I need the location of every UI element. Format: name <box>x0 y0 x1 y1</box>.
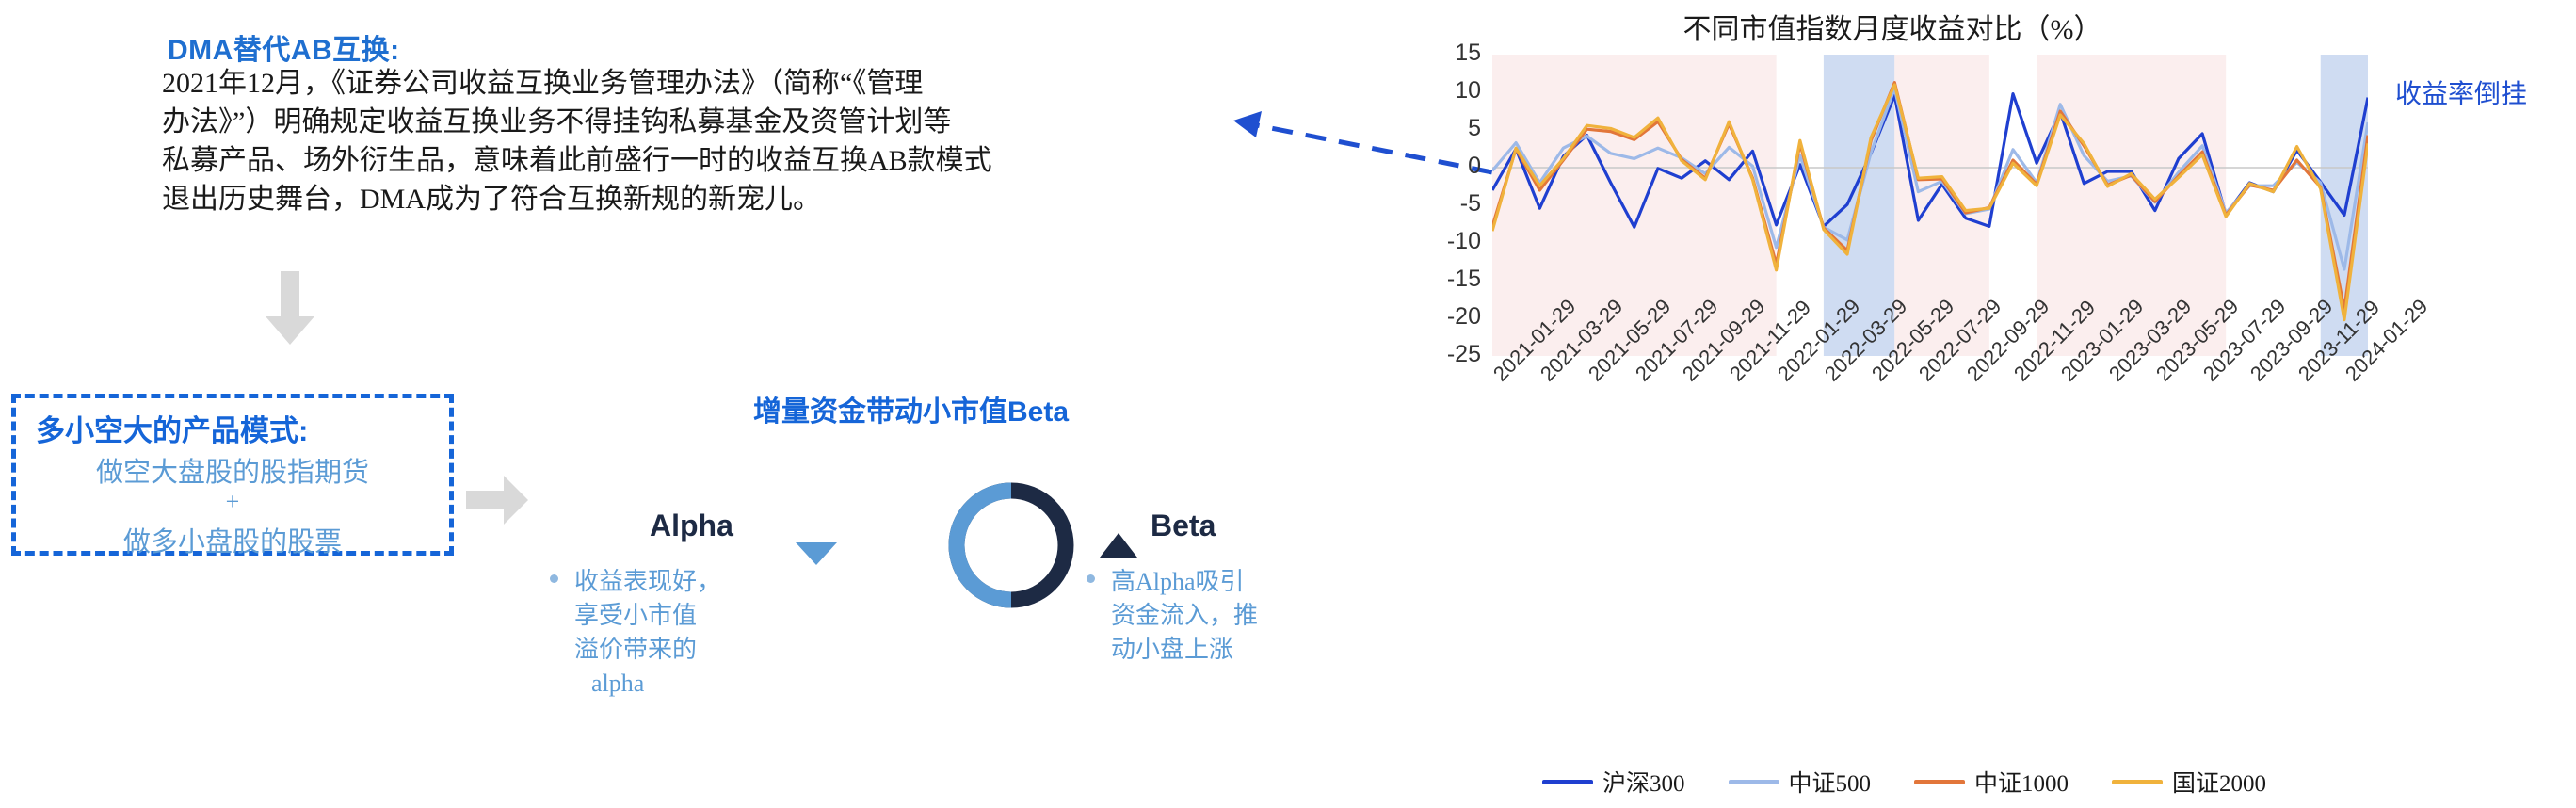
y-tick-label: 10 <box>1415 77 1481 105</box>
legend-item: 中证500 <box>1729 765 1872 799</box>
y-tick-label: 5 <box>1415 115 1481 142</box>
alpha-bullet-1: 收益表现好， <box>574 565 772 599</box>
beta-bullet-list: 高Alpha吸引 资金流入，推 动小盘上涨 <box>1111 565 1328 667</box>
headline-dma: DMA替代AB互换: <box>168 26 400 68</box>
alpha-bullet-list: 收益表现好， 享受小市值 溢价带来的 alpha <box>574 565 772 701</box>
beta-triangle-icon <box>1100 533 1137 558</box>
legend-swatch <box>2112 780 2163 784</box>
y-tick-label: -5 <box>1415 190 1481 218</box>
y-tick-label: 15 <box>1415 40 1481 67</box>
legend-item: 中证1000 <box>1914 765 2069 799</box>
right-arrow-icon <box>466 476 528 525</box>
monthly-return-chart: 不同市值指数月度收益对比（%） 小市值溢价 收益率倒挂 151050-5-10-… <box>1375 0 2576 808</box>
legend-swatch <box>1914 780 1965 784</box>
y-tick-label: -10 <box>1415 228 1481 255</box>
chart-title: 不同市值指数月度收益对比（%） <box>1375 6 2410 47</box>
beta-bullet-2: 资金流入，推 <box>1111 599 1328 633</box>
alpha-beta-title: 增量资金带动小市值Beta <box>753 388 1069 429</box>
annotation-yield-inversion: 收益率倒挂 <box>2395 73 2527 111</box>
paragraph-line-2: 办法》”）明确规定收益互换业务不得挂钩私募基金及资管计划等 <box>162 103 1174 141</box>
beta-bullet-3: 动小盘上涨 <box>1111 633 1328 667</box>
legend-item: 沪深300 <box>1542 765 1685 799</box>
paragraph-line-3: 私募产品、场外衍生品，意味着此前盛行一时的收益互换AB款模式 <box>162 141 1174 180</box>
y-tick-label: -15 <box>1415 266 1481 293</box>
paragraph-line-4: 退出历史舞台，DMA成为了符合互换新规的新宠儿。 <box>162 180 1174 218</box>
body-paragraph: 2021年12月，《证券公司收益互换业务管理办法》（简称“《管理 办法》”）明确… <box>162 64 1174 218</box>
legend-label: 中证1000 <box>1974 765 2069 799</box>
legend-label: 中证500 <box>1789 765 1872 799</box>
product-mode-line-1: 做空大盘股的股指期货 <box>11 450 454 490</box>
alpha-bullet-2: 享受小市值 <box>574 599 772 633</box>
beta-bullet-1: 高Alpha吸引 <box>1111 565 1328 599</box>
legend-swatch <box>1542 780 1593 784</box>
paragraph-line-1: 2021年12月，《证券公司收益互换业务管理办法》（简称“《管理 <box>162 64 1174 103</box>
y-tick-label: 0 <box>1415 153 1481 180</box>
legend-swatch <box>1729 780 1779 784</box>
bullet-dot-icon <box>1087 574 1095 583</box>
alpha-triangle-icon <box>796 542 837 565</box>
down-arrow-icon <box>266 271 314 345</box>
product-mode-title: 多小空大的产品模式: <box>36 407 308 449</box>
product-mode-plus: + <box>11 488 454 516</box>
product-mode-line-3: 做多小盘股的股票 <box>11 520 454 559</box>
chart-legend: 沪深300 中证500 中证1000 国证2000 <box>1542 765 2266 799</box>
alpha-beta-donut-icon <box>942 476 1081 615</box>
alpha-label: Alpha <box>650 509 733 543</box>
legend-label: 沪深300 <box>1602 765 1685 799</box>
bullet-dot-icon <box>550 574 558 583</box>
legend-label: 国证2000 <box>2172 765 2266 799</box>
legend-item: 国证2000 <box>2112 765 2266 799</box>
infographic-page: DMA替代AB互换: 2021年12月，《证券公司收益互换业务管理办法》（简称“… <box>0 0 2576 808</box>
y-tick-label: -25 <box>1415 341 1481 368</box>
y-tick-label: -20 <box>1415 303 1481 331</box>
alpha-bullet-4: alpha <box>574 667 772 701</box>
alpha-bullet-3: 溢价带来的 <box>574 633 772 667</box>
beta-label: Beta <box>1151 509 1216 543</box>
